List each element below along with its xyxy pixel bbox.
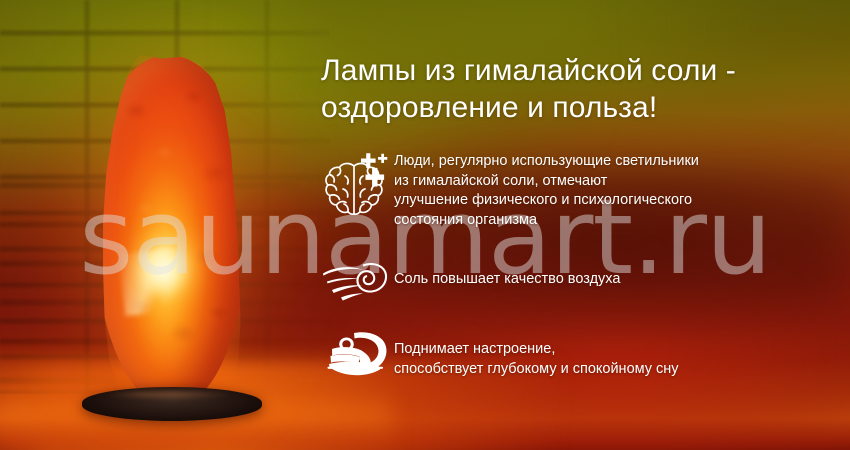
list-item: Люди, регулярно использующие светильники… — [318, 150, 850, 230]
lamp-base-highlight — [104, 391, 234, 398]
benefit-1-line-4: состояния организма — [394, 211, 699, 231]
benefit-2-line-1: Соль повышает качество воздуха — [394, 270, 620, 290]
headline-line-2: оздоровление и польза! — [321, 89, 841, 126]
benefit-1-line-2: из гималайской соли, отмечают — [394, 172, 699, 192]
benefit-text: Соль повышает качество воздуха — [394, 252, 620, 290]
benefit-text: Поднимает настроение, способствует глубо… — [394, 328, 679, 379]
brain-plus-icon — [318, 150, 394, 218]
list-item: Соль повышает качество воздуха — [318, 252, 850, 304]
benefit-1-line-1: Люди, регулярно использующие светильники — [394, 152, 699, 172]
wind-swirl-icon — [318, 252, 394, 304]
page-title: Лампы из гималайской соли - оздоровление… — [321, 52, 841, 126]
benefit-1-line-3: улучшение физического и психологического — [394, 191, 699, 211]
benefit-3-line-1: Поднимает настроение, — [394, 340, 679, 360]
salt-lamp-promo-banner: saunamart.ru Лампы из гималайской соли -… — [0, 0, 850, 450]
benefit-3-line-2: способствует глубокому и спокойному сну — [394, 360, 679, 380]
lamp-bulb-hotspot — [140, 247, 186, 295]
benefit-text: Люди, регулярно использующие светильники… — [394, 150, 699, 230]
banner-content: Лампы из гималайской соли - оздоровление… — [318, 0, 850, 450]
headline-line-1: Лампы из гималайской соли - — [321, 52, 841, 89]
himalayan-salt-lamp — [78, 55, 263, 430]
benefit-list: Люди, регулярно использующие светильники… — [318, 150, 850, 382]
list-item: Поднимает настроение, способствует глубо… — [318, 328, 850, 382]
sleeping-person-icon — [318, 328, 394, 382]
